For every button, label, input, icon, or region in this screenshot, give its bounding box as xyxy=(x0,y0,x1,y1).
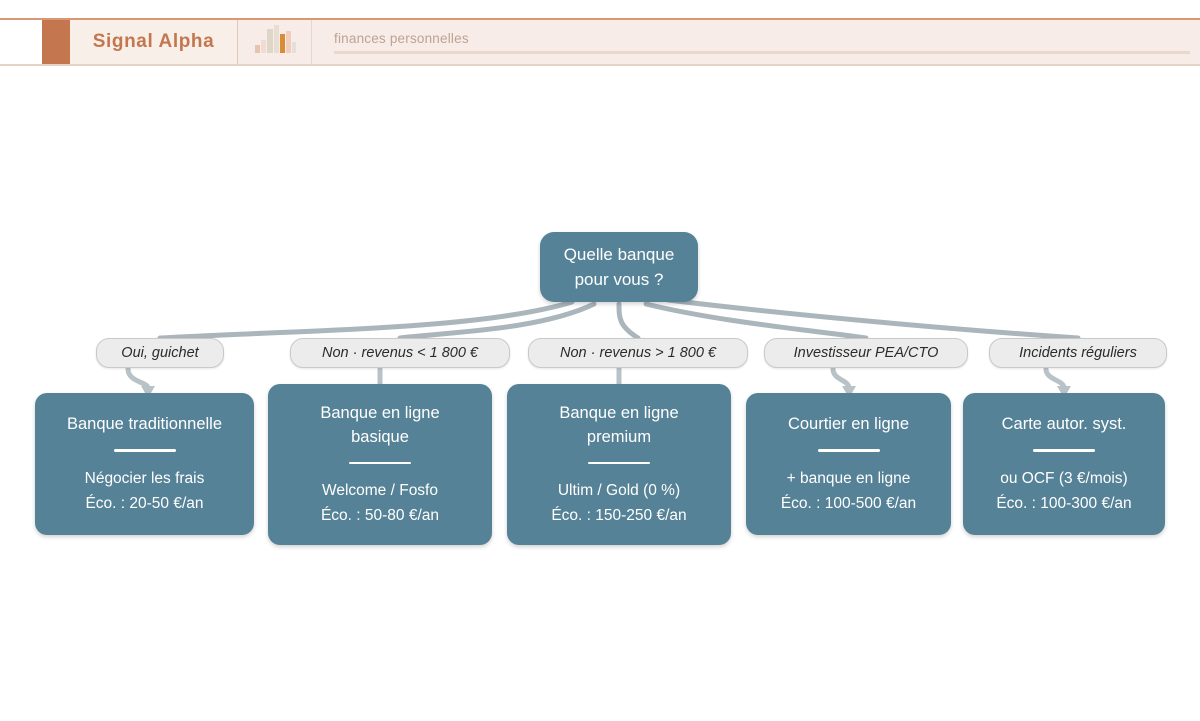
outcome-node-4-savings: Éco. : 100-500 €/an xyxy=(781,491,916,516)
outcome-node-5-divider xyxy=(1033,449,1095,452)
outcome-node-1-detail: Négocier les frais xyxy=(85,466,205,491)
root-node[interactable]: Quelle banque pour vous ? xyxy=(540,232,698,302)
branch-label-4[interactable]: Investisseur PEA/CTO xyxy=(764,338,968,368)
branch-label-2[interactable]: Non · revenus < 1 800 € xyxy=(290,338,510,368)
outcome-node-4-divider xyxy=(818,449,880,452)
outcome-node-1-savings: Éco. : 20-50 €/an xyxy=(85,491,205,516)
outcome-node-3-body: Ultim / Gold (0 %) Éco. : 150-250 €/an xyxy=(543,478,694,528)
outcome-node-2-divider xyxy=(349,462,411,465)
outcome-node-5-body: ou OCF (3 €/mois) Éco. : 100-300 €/an xyxy=(988,466,1139,516)
outcome-node-3[interactable]: Banque en ligne premium Ultim / Gold (0 … xyxy=(507,384,731,545)
outcome-node-4-body: + banque en ligne Éco. : 100-500 €/an xyxy=(773,466,924,516)
outcome-node-2-title: Banque en ligne basique xyxy=(310,401,449,449)
outcome-node-3-detail: Ultim / Gold (0 %) xyxy=(551,478,686,503)
outcome-node-3-divider xyxy=(588,462,650,465)
outcome-node-3-title: Banque en ligne premium xyxy=(549,401,688,449)
outcome-node-1-divider xyxy=(114,449,176,452)
outcome-node-2-savings: Éco. : 50-80 €/an xyxy=(321,503,439,528)
branch-label-5[interactable]: Incidents réguliers xyxy=(989,338,1167,368)
outcome-node-5-detail: ou OCF (3 €/mois) xyxy=(996,466,1131,491)
outcome-node-1[interactable]: Banque traditionnelle Négocier les frais… xyxy=(35,393,254,535)
outcome-node-2-title-line1: Banque en ligne xyxy=(320,401,439,425)
outcome-node-4-detail: + banque en ligne xyxy=(781,466,916,491)
outcome-node-2-body: Welcome / Fosfo Éco. : 50-80 €/an xyxy=(313,478,447,528)
outcome-node-1-body: Négocier les frais Éco. : 20-50 €/an xyxy=(77,466,213,516)
outcome-node-5-title: Carte autor. syst. xyxy=(992,412,1137,436)
root-node-line2: pour vous ? xyxy=(575,267,664,292)
outcome-node-3-savings: Éco. : 150-250 €/an xyxy=(551,503,686,528)
outcome-node-1-title: Banque traditionnelle xyxy=(57,412,232,436)
outcome-node-2-title-line2: basique xyxy=(320,425,439,449)
outcome-node-2-detail: Welcome / Fosfo xyxy=(321,478,439,503)
branch-label-1[interactable]: Oui, guichet xyxy=(96,338,224,368)
outcome-node-4-title: Courtier en ligne xyxy=(778,412,919,436)
outcome-node-2[interactable]: Banque en ligne basique Welcome / Fosfo … xyxy=(268,384,492,545)
outcome-node-3-title-line2: premium xyxy=(559,425,678,449)
outcome-node-4[interactable]: Courtier en ligne + banque en ligne Éco.… xyxy=(746,393,951,535)
outcome-node-5[interactable]: Carte autor. syst. ou OCF (3 €/mois) Éco… xyxy=(963,393,1165,535)
outcome-node-3-title-line1: Banque en ligne xyxy=(559,401,678,425)
decision-tree-diagram: Quelle banque pour vous ? Oui, guichet N… xyxy=(0,0,1200,721)
branch-label-3[interactable]: Non · revenus > 1 800 € xyxy=(528,338,748,368)
root-node-line1: Quelle banque xyxy=(564,242,675,267)
outcome-node-5-savings: Éco. : 100-300 €/an xyxy=(996,491,1131,516)
